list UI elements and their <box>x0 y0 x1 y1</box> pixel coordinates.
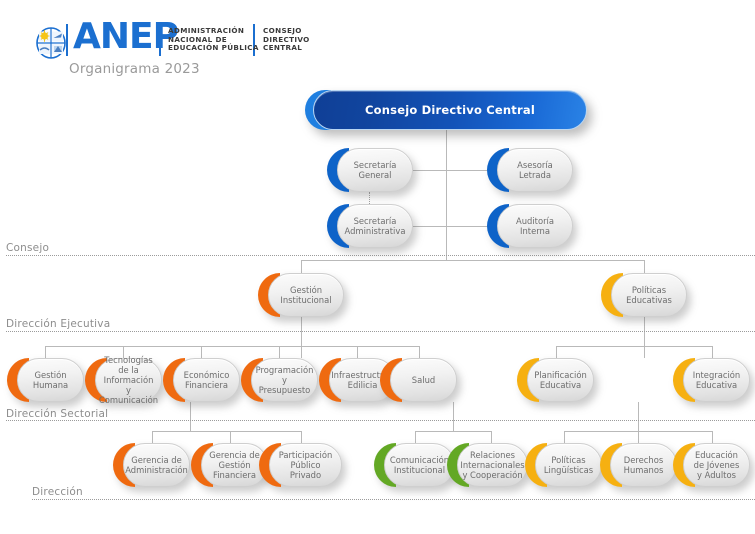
node-body: Económico Financiera <box>173 358 240 402</box>
node-body: Gerencia de Administración <box>123 443 190 487</box>
node-gerencia-administracion[interactable]: Gerencia de Administración <box>113 443 190 487</box>
node-gestion-institucional[interactable]: Gestión Institucional <box>258 273 344 317</box>
node-label: Integración Educativa <box>688 370 745 390</box>
node-body: Salud <box>390 358 457 402</box>
connector-line <box>453 402 454 431</box>
node-body: Asesoría Letrada <box>497 148 573 192</box>
node-label: Asesoría Letrada <box>512 160 558 180</box>
connector-line <box>419 346 420 358</box>
node-secretaria-general[interactable]: Secretaría General <box>327 148 413 192</box>
node-body: Educación de Jóvenes y Adultos <box>683 443 750 487</box>
organization-full-name: ADMINISTRACIÓN NACIONAL DE EDUCACIÓN PÚB… <box>168 27 259 53</box>
brand-divider-2 <box>159 24 161 56</box>
node-gerencia-gestion-financiera[interactable]: Gerencia de Gestión Financiera <box>191 443 268 487</box>
node-economico-financiera[interactable]: Económico Financiera <box>163 358 240 402</box>
connector-line <box>415 431 416 443</box>
node-label: Salud <box>407 375 440 385</box>
band-divider <box>6 420 755 421</box>
connector-line <box>413 226 487 227</box>
connector-line <box>45 346 46 358</box>
band-label: Dirección Ejecutiva <box>6 318 110 330</box>
node-body: Relaciones Internacionales y Cooperación <box>457 443 528 487</box>
connector-line <box>152 431 153 443</box>
node-integracion-educativa[interactable]: Integración Educativa <box>673 358 750 402</box>
uruguay-coat-of-arms-icon <box>33 24 69 60</box>
node-label: Gerencia de Administración <box>120 455 193 475</box>
anep-wordmark: ANEP <box>73 19 178 55</box>
node-label: Gestión Humana <box>28 370 73 390</box>
connector-line <box>357 346 358 358</box>
node-body: Derechos Humanos <box>610 443 677 487</box>
connector-line <box>301 260 644 261</box>
connector-line <box>413 170 487 171</box>
node-gestion-humana[interactable]: Gestión Humana <box>7 358 84 402</box>
node-label: Comunicación Institucional <box>385 455 454 475</box>
node-label: Tecnologías de la Información y Comunica… <box>94 355 163 406</box>
connector-line <box>301 260 302 273</box>
connector-line <box>556 346 557 358</box>
band-divider <box>6 331 755 332</box>
connector-line <box>556 346 712 347</box>
node-label: Participación Público Privado <box>270 450 341 481</box>
node-body: Políticas Educativas <box>611 273 687 317</box>
node-label: Educación de Jóvenes y Adultos <box>689 450 745 481</box>
node-relaciones-internacionales[interactable]: Relaciones Internacionales y Cooperación <box>447 443 528 487</box>
node-label: Consejo Directivo Central <box>365 103 535 117</box>
node-auditoria-interna[interactable]: Auditoría Interna <box>487 204 573 248</box>
connector-line <box>279 346 280 358</box>
node-label: Planificación Educativa <box>529 370 592 390</box>
connector-line <box>201 346 202 358</box>
council-name: CONSEJO DIRECTIVO CENTRAL <box>263 27 310 53</box>
connector-line <box>638 402 639 431</box>
band-label: Dirección Sectorial <box>6 408 108 420</box>
node-label: Secretaría General <box>349 160 402 180</box>
band-label: Consejo <box>6 242 49 254</box>
node-body: Gestión Humana <box>17 358 84 402</box>
node-body: Políticas Lingüísticas <box>535 443 602 487</box>
connector-line <box>491 431 492 443</box>
node-body: Gerencia de Gestión Financiera <box>201 443 268 487</box>
node-participacion-publico-privado[interactable]: Participación Público Privado <box>259 443 342 487</box>
node-planificacion-educativa[interactable]: Planificación Educativa <box>517 358 594 402</box>
node-body: Secretaría Administrativa <box>337 204 413 248</box>
connector-line <box>712 346 713 358</box>
node-consejo-directivo-central[interactable]: Consejo Directivo Central <box>305 90 587 130</box>
node-label: Gestión Institucional <box>275 285 336 305</box>
node-body: Tecnologías de la Información y Comunica… <box>95 358 162 402</box>
connector-line <box>638 431 639 443</box>
node-body: Gestión Institucional <box>268 273 344 317</box>
brand-divider-1 <box>66 24 68 56</box>
node-derechos-humanos[interactable]: Derechos Humanos <box>600 443 677 487</box>
page-header: ANEP ADMINISTRACIÓN NACIONAL DE EDUCACIÓ… <box>0 0 755 86</box>
node-body: Auditoría Interna <box>497 204 573 248</box>
connector-line <box>152 431 301 432</box>
node-comunicacion-institucional[interactable]: Comunicación Institucional <box>374 443 455 487</box>
connector-line <box>446 130 447 260</box>
node-politicas-linguisticas[interactable]: Políticas Lingüísticas <box>525 443 602 487</box>
node-secretaria-administrativa[interactable]: Secretaría Administrativa <box>327 204 413 248</box>
node-label: Gerencia de Gestión Financiera <box>204 450 265 481</box>
node-politicas-educativas[interactable]: Políticas Educativas <box>601 273 687 317</box>
band-divider <box>32 499 755 500</box>
node-body: Comunicación Institucional <box>384 443 455 487</box>
node-educacion-jovenes-adultos[interactable]: Educación de Jóvenes y Adultos <box>673 443 750 487</box>
node-label: Derechos Humanos <box>619 455 669 475</box>
connector-line <box>644 317 645 358</box>
connector-line <box>644 260 645 273</box>
node-body: Programación y Presupuesto <box>251 358 318 402</box>
connector-line <box>45 346 419 347</box>
node-asesoria-letrada[interactable]: Asesoría Letrada <box>487 148 573 192</box>
node-label: Políticas Educativas <box>621 285 677 305</box>
band-divider <box>6 255 755 256</box>
organigrama-canvas: ANEP ADMINISTRACIÓN NACIONAL DE EDUCACIÓ… <box>0 0 755 534</box>
node-tecnologias-informacion[interactable]: Tecnologías de la Información y Comunica… <box>85 358 162 402</box>
node-label: Relaciones Internacionales y Cooperación <box>455 450 529 481</box>
connector-line <box>564 431 565 443</box>
connector-line <box>415 431 491 432</box>
node-body: Consejo Directivo Central <box>313 90 587 130</box>
band-label: Dirección <box>32 486 83 498</box>
node-programacion-presupuesto[interactable]: Programación y Presupuesto <box>241 358 318 402</box>
node-label: Auditoría Interna <box>511 216 559 236</box>
node-body: Participación Público Privado <box>269 443 342 487</box>
connector-line <box>230 431 231 443</box>
node-salud[interactable]: Salud <box>380 358 457 402</box>
node-label: Políticas Lingüísticas <box>539 455 598 475</box>
connector-line <box>712 431 713 443</box>
node-label: Secretaría Administrativa <box>340 216 411 236</box>
node-body: Integración Educativa <box>683 358 750 402</box>
node-body: Planificación Educativa <box>527 358 594 402</box>
page-subtitle: Organigrama 2023 <box>69 61 200 77</box>
connector-line <box>301 431 302 443</box>
node-body: Secretaría General <box>337 148 413 192</box>
connector-line <box>301 317 302 358</box>
node-label: Económico Financiera <box>179 370 235 390</box>
node-label: Programación y Presupuesto <box>251 365 319 396</box>
